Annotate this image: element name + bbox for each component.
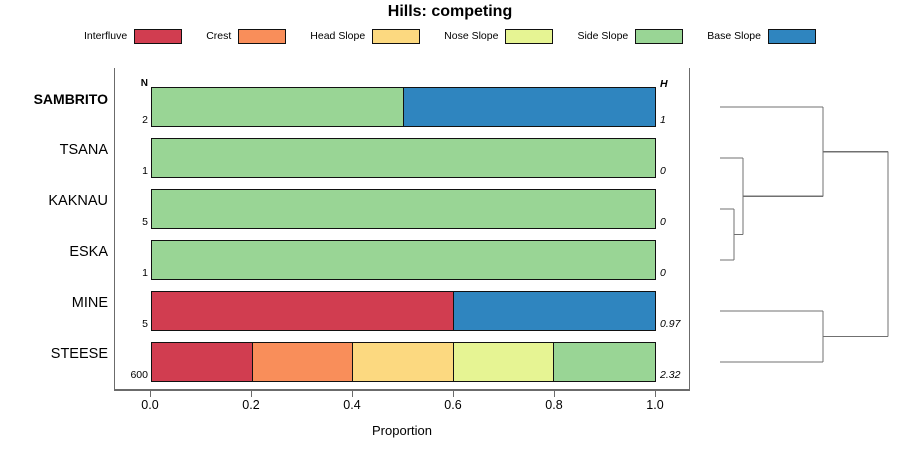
chart-legend: InterfluveCrestHead SlopeNose SlopeSide … xyxy=(0,26,900,46)
x-tick xyxy=(453,390,454,397)
bar-segment-base-slope[interactable] xyxy=(454,292,655,330)
n-value: 1 xyxy=(118,165,148,177)
legend-item-label: Crest xyxy=(206,30,231,42)
legend-item-label: Interfluve xyxy=(84,30,127,42)
taxon-label: KAKNAU xyxy=(0,193,108,209)
legend-swatch xyxy=(768,29,816,44)
bar-row[interactable] xyxy=(151,138,656,178)
legend-item-head-slope: Head Slope xyxy=(310,29,420,44)
n-column-header: N xyxy=(118,78,148,89)
legend-item-label: Base Slope xyxy=(707,30,761,42)
bar-segment-side-slope[interactable] xyxy=(152,139,655,177)
n-value: 5 xyxy=(118,216,148,228)
legend-item-side-slope: Side Slope xyxy=(577,29,683,44)
dendrogram-svg xyxy=(690,68,900,390)
bar-segment-interfluve[interactable] xyxy=(152,343,253,381)
plot-panel xyxy=(114,68,690,390)
x-axis-label: Proportion xyxy=(114,423,690,438)
legend-swatch xyxy=(238,29,286,44)
legend-swatch xyxy=(134,29,182,44)
bar-segment-crest[interactable] xyxy=(253,343,354,381)
x-tick-label: 0.8 xyxy=(524,398,584,412)
bar-segment-base-slope[interactable] xyxy=(404,88,656,126)
bar-row[interactable] xyxy=(151,291,656,331)
x-tick xyxy=(251,390,252,397)
n-value: 1 xyxy=(118,267,148,279)
legend-item-nose-slope: Nose Slope xyxy=(444,29,553,44)
bar-segment-head-slope[interactable] xyxy=(353,343,454,381)
taxon-label: ESKA xyxy=(0,244,108,260)
chart-root: Hills: competing InterfluveCrestHead Slo… xyxy=(0,0,900,460)
x-tick-label: 0.6 xyxy=(423,398,483,412)
legend-item-base-slope: Base Slope xyxy=(707,29,816,44)
x-tick-label: 0.0 xyxy=(120,398,180,412)
bar-segment-nose-slope[interactable] xyxy=(454,343,555,381)
n-value: 5 xyxy=(118,318,148,330)
x-tick-label: 0.2 xyxy=(221,398,281,412)
bar-row[interactable] xyxy=(151,342,656,382)
legend-swatch xyxy=(635,29,683,44)
x-tick-label: 0.4 xyxy=(322,398,382,412)
bar-row[interactable] xyxy=(151,189,656,229)
x-tick-label: 1.0 xyxy=(625,398,685,412)
legend-item-crest: Crest xyxy=(206,29,286,44)
x-tick xyxy=(352,390,353,397)
x-tick xyxy=(554,390,555,397)
legend-item-label: Nose Slope xyxy=(444,30,498,42)
legend-swatch xyxy=(505,29,553,44)
x-axis-line xyxy=(114,390,690,391)
taxon-label: STEESE xyxy=(0,346,108,362)
n-value: 2 xyxy=(118,114,148,126)
taxon-label: SAMBRITO xyxy=(0,91,108,107)
bar-segment-side-slope[interactable] xyxy=(152,190,655,228)
taxon-label: TSANA xyxy=(0,142,108,158)
bar-segment-side-slope[interactable] xyxy=(554,343,655,381)
dendrogram xyxy=(690,68,900,390)
taxon-label: MINE xyxy=(0,295,108,311)
bar-segment-interfluve[interactable] xyxy=(152,292,454,330)
legend-item-label: Side Slope xyxy=(577,30,628,42)
bar-row[interactable] xyxy=(151,240,656,280)
bar-row[interactable] xyxy=(151,87,656,127)
chart-title: Hills: competing xyxy=(0,3,900,21)
plot-area xyxy=(151,68,656,389)
legend-swatch xyxy=(372,29,420,44)
bar-segment-side-slope[interactable] xyxy=(152,241,655,279)
n-value: 600 xyxy=(118,369,148,381)
legend-item-label: Head Slope xyxy=(310,30,365,42)
x-tick xyxy=(150,390,151,397)
bar-segment-side-slope[interactable] xyxy=(152,88,404,126)
x-tick xyxy=(655,390,656,397)
legend-item-interfluve: Interfluve xyxy=(84,29,182,44)
